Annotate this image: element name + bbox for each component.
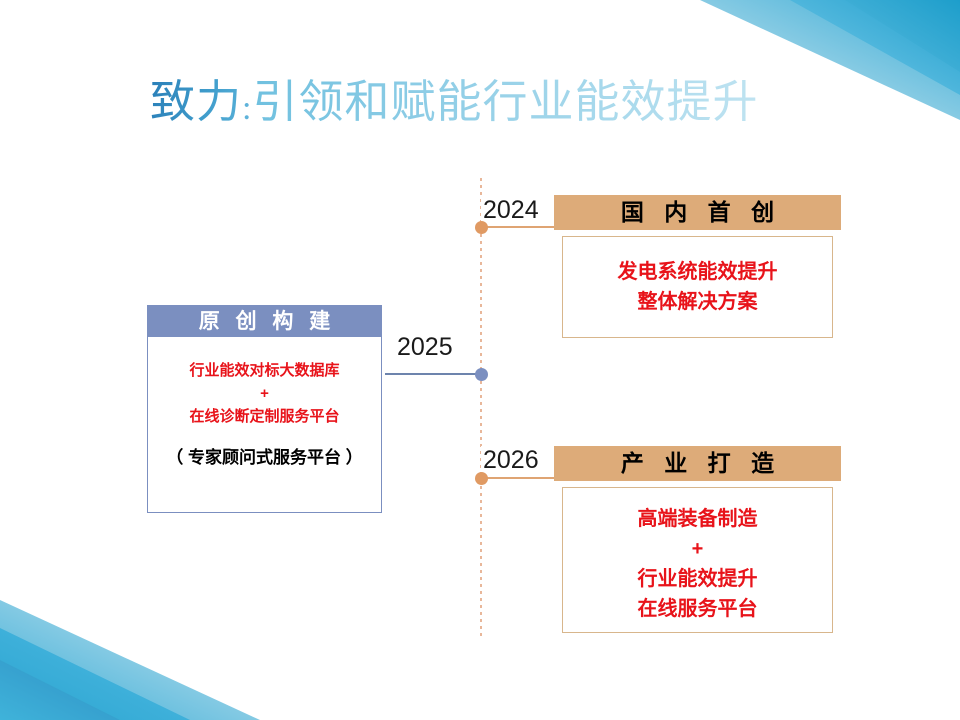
timeline-node-dot-2026 [475, 472, 488, 485]
connector-2026 [481, 477, 555, 479]
card-top-line-2: 整体解决方案 [563, 287, 832, 317]
page-title: 致力:引领和赋能行业能效提升 [150, 74, 758, 137]
title-rest-text: 引领和赋能行业能效提升 [252, 77, 758, 127]
timeline-year-2026: 2026 [481, 446, 541, 475]
slide-canvas: 致力:引领和赋能行业能效提升 2024 2025 2026 原 创 构 建 行业… [0, 0, 960, 720]
card-origin-line-2: + [148, 382, 381, 405]
card-bottom-body: 高端装备制造 + 行业能效提升 在线服务平台 [562, 487, 833, 633]
card-bottom-line-2: + [563, 534, 832, 564]
ribbon-top-right-mid [790, 0, 960, 95]
card-industry-build: 产 业 打 造 高端装备制造 + 行业能效提升 在线服务平台 [554, 446, 841, 633]
card-bottom-line-1: 高端装备制造 [563, 504, 832, 534]
card-top-body: 发电系统能效提升 整体解决方案 [562, 236, 833, 338]
title-colon: : [242, 90, 252, 127]
card-bottom-header: 产 业 打 造 [554, 446, 841, 481]
card-origin-note: （ 专家顾问式服务平台 ） [148, 446, 381, 469]
ribbon-bottom-left-light [0, 600, 260, 720]
connector-2025 [385, 373, 481, 375]
ribbon-bottom-left-mid [0, 628, 190, 720]
card-origin-line-1: 行业能效对标大数据库 [148, 359, 381, 382]
timeline-axis [480, 178, 482, 636]
ribbon-top-right-dark [845, 0, 960, 72]
card-top-line-1: 发电系统能效提升 [563, 257, 832, 287]
card-bottom-line-4: 在线服务平台 [563, 594, 832, 624]
card-bottom-line-3: 行业能效提升 [563, 564, 832, 594]
card-top-header: 国 内 首 创 [554, 195, 841, 230]
timeline-year-2024: 2024 [481, 196, 541, 225]
timeline-node-dot-2025 [475, 368, 488, 381]
card-domestic-first: 国 内 首 创 发电系统能效提升 整体解决方案 [554, 195, 841, 338]
connector-2024 [481, 226, 555, 228]
title-lead-text: 致力 [150, 77, 242, 127]
timeline-node-dot-2024 [475, 221, 488, 234]
card-origin-construction: 原 创 构 建 行业能效对标大数据库 + 在线诊断定制服务平台 （ 专家顾问式服… [147, 305, 382, 513]
card-origin-header: 原 创 构 建 [147, 305, 382, 337]
timeline-year-2025: 2025 [395, 333, 455, 362]
card-origin-line-3: 在线诊断定制服务平台 [148, 405, 381, 428]
ribbon-bottom-left-dark [0, 660, 120, 720]
card-origin-body: 行业能效对标大数据库 + 在线诊断定制服务平台 （ 专家顾问式服务平台 ） [147, 337, 382, 513]
